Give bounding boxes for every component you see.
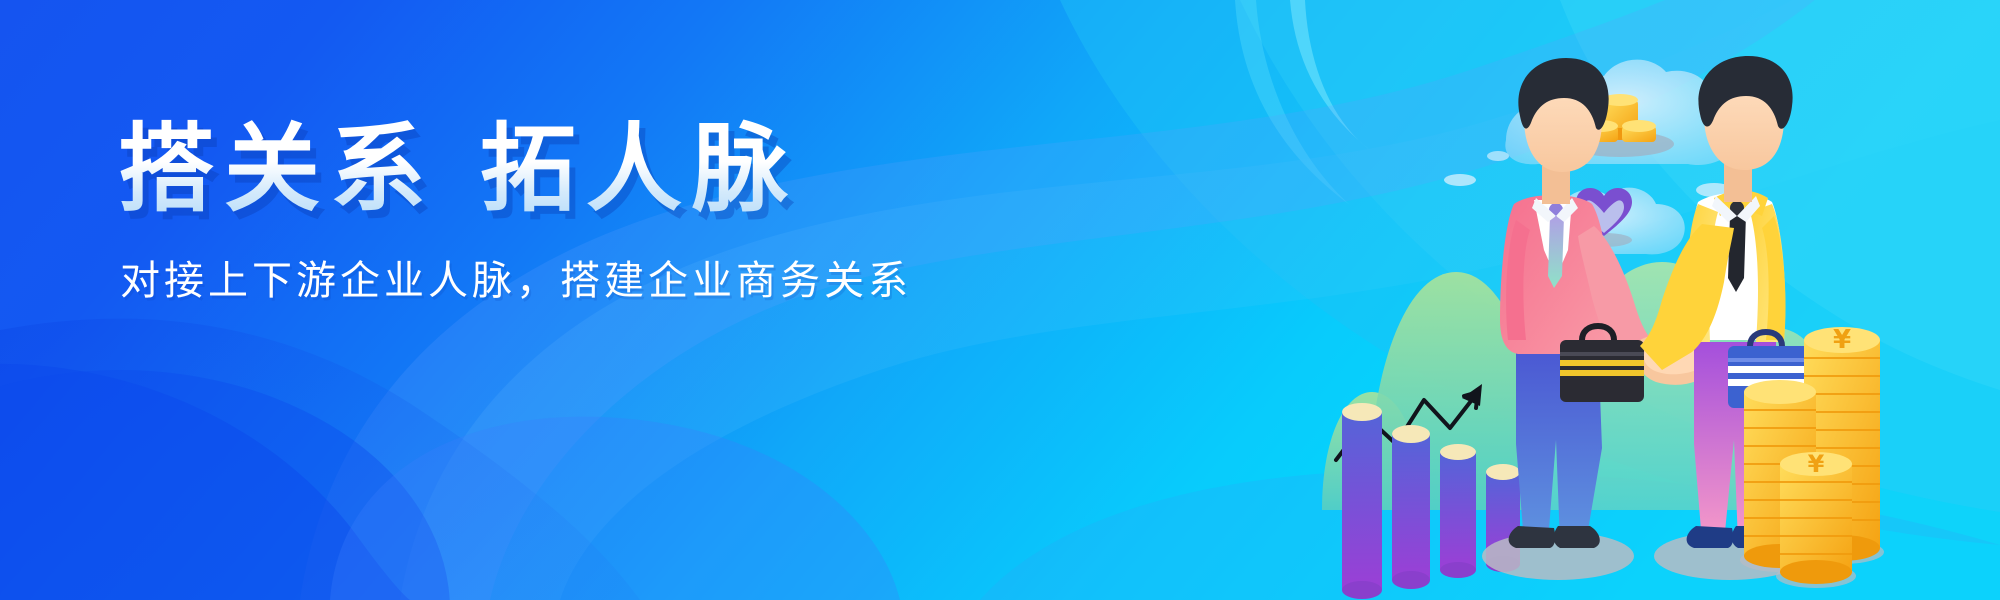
cloud-puff-small-c: [1487, 151, 1509, 161]
headline-part-1: 搭关系: [118, 116, 436, 223]
coin-yen-symbol-tall: ¥: [1833, 325, 1851, 355]
bar-cylinder-2: [1392, 425, 1430, 589]
person-left-shoe-a: [1509, 526, 1556, 548]
bar-cylinder-1: [1342, 403, 1382, 599]
bar-cylinder-3: [1440, 444, 1476, 578]
page-title: 搭关系拓人脉: [118, 118, 1018, 222]
promo-banner: 搭关系拓人脉 对接上下游企业人脉，搭建企业商务关系: [0, 0, 2000, 600]
person-left-shoe-b: [1554, 526, 1600, 548]
two-businessmen-handshake-illustration: ¥: [1310, 40, 1950, 600]
person-right-shoe-a: [1687, 526, 1734, 548]
coin-stack-short: ¥: [1776, 450, 1856, 588]
coin-yen-symbol-short: ¥: [1808, 450, 1825, 478]
headline-part-2: 拓人脉: [480, 116, 798, 223]
banner-subtitle: 对接上下游企业人脉，搭建企业商务关系: [120, 248, 1018, 306]
cloud-puff-small-a: [1444, 174, 1476, 186]
banner-text-block: 搭关系拓人脉 对接上下游企业人脉，搭建企业商务关系: [118, 118, 1018, 306]
